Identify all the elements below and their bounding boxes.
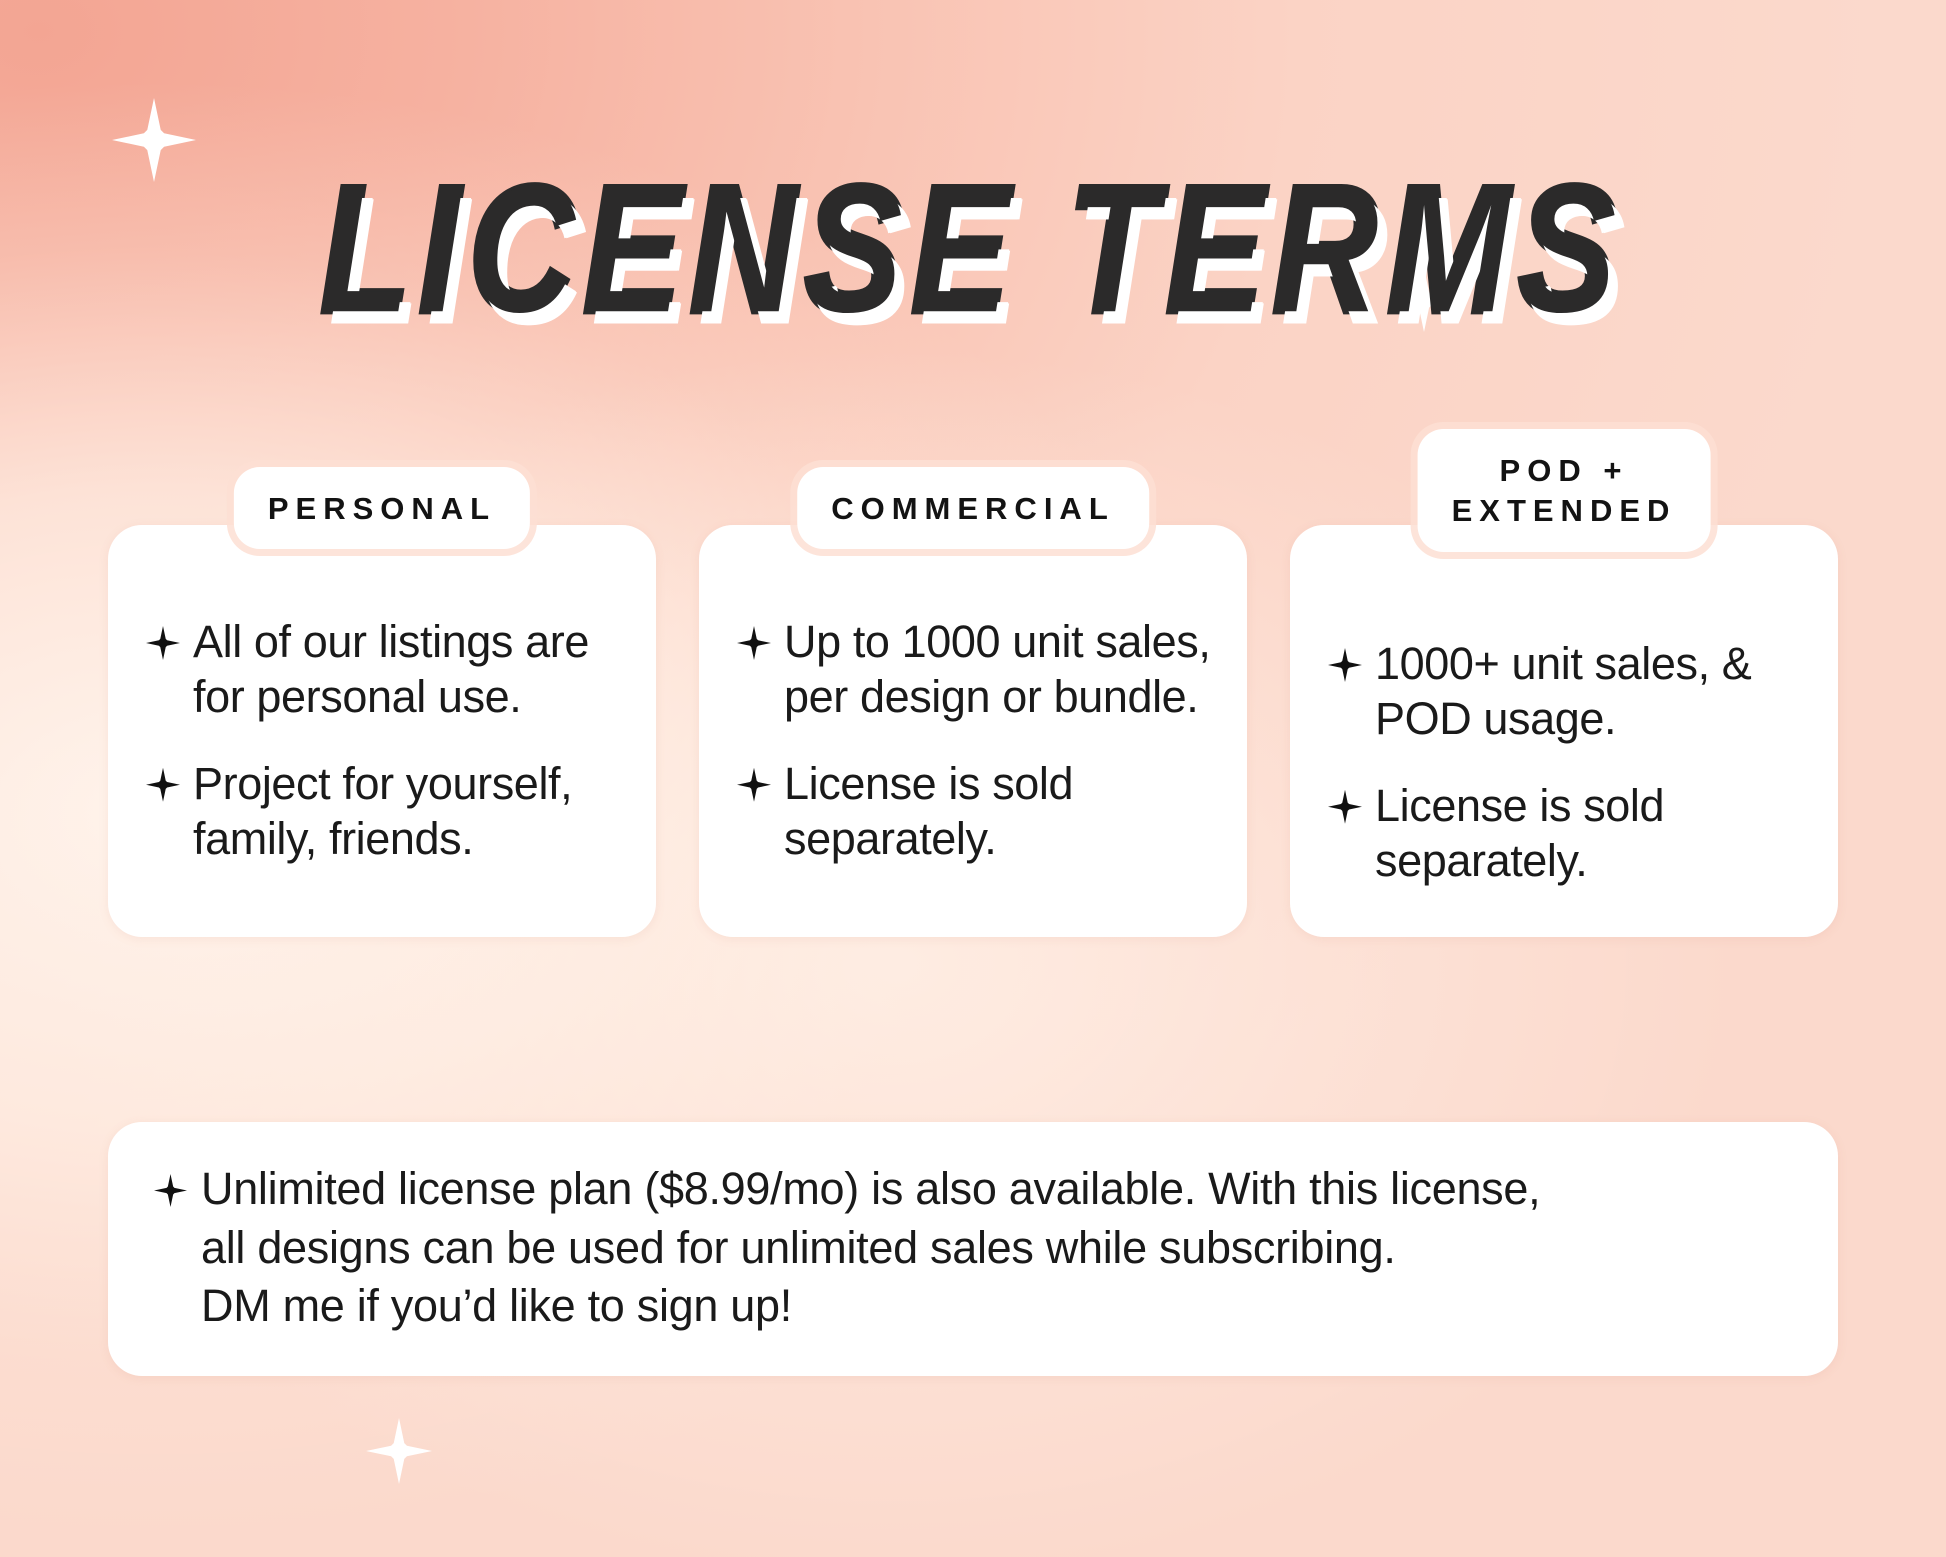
sparkle-bullet-icon [154,1174,187,1207]
plan-card-tab-commercial: COMMERCIAL [797,467,1149,549]
plan-card-personal: PERSONAL All of our listings are for per… [108,525,656,937]
poster-canvas: LICENSE TERMS PERSONAL All of our listin… [0,0,1946,1557]
plan-feature-text: License is sold separately. [784,757,1213,867]
list-item: License is sold separately. [737,757,1213,867]
plan-card-tab-label-line2: EXTENDED [1452,491,1677,531]
sparkle-bullet-icon [146,768,180,802]
plan-feature-text: 1000+ unit sales, & POD usage. [1375,637,1804,747]
unlimited-plan-text: Unlimited license plan ($8.99/mo) is als… [201,1160,1540,1336]
plan-feature-text: License is sold separately. [1375,779,1804,889]
plan-card-pod-extended: POD + EXTENDED 1000+ unit sales, & POD u… [1290,525,1838,937]
plan-feature-text: Project for yourself, family, friends. [193,757,622,867]
plan-card-row: PERSONAL All of our listings are for per… [108,525,1838,937]
sparkle-bullet-icon [737,626,771,660]
plan-card-tab-pod-extended: POD + EXTENDED [1418,429,1711,552]
plan-card-tab-label: COMMERCIAL [831,489,1115,529]
plan-feature-list: All of our listings are for personal use… [146,615,622,867]
plan-card-commercial: COMMERCIAL Up to 1000 unit sales, per de… [699,525,1247,937]
plan-card-tab-label: PERSONAL [268,489,496,529]
plan-feature-text: All of our listings are for personal use… [193,615,622,725]
sparkle-bullet-icon [1328,648,1362,682]
sparkle-icon-bottom-left [366,1418,432,1484]
plan-feature-list: Up to 1000 unit sales, per design or bun… [737,615,1213,867]
sparkle-bullet-icon [1328,790,1362,824]
sparkle-bullet-icon [737,768,771,802]
plan-card-tab-personal: PERSONAL [234,467,530,549]
list-item: Up to 1000 unit sales, per design or bun… [737,615,1213,725]
page-title-wrapper: LICENSE TERMS [0,160,1946,308]
unlimited-plan-banner: Unlimited license plan ($8.99/mo) is als… [108,1122,1838,1376]
plan-card-body: All of our listings are for personal use… [108,525,656,901]
list-item: 1000+ unit sales, & POD usage. [1328,637,1804,747]
plan-feature-list: 1000+ unit sales, & POD usage. License i… [1328,637,1804,889]
plan-card-body: 1000+ unit sales, & POD usage. License i… [1290,525,1838,923]
page-title: LICENSE TERMS [321,160,1625,341]
sparkle-bullet-icon [146,626,180,660]
list-item: License is sold separately. [1328,779,1804,889]
plan-card-tab-label-line1: POD + [1452,451,1677,491]
plan-card-body: Up to 1000 unit sales, per design or bun… [699,525,1247,901]
list-item: Project for yourself, family, friends. [146,757,622,867]
plan-feature-text: Up to 1000 unit sales, per design or bun… [784,615,1213,725]
list-item: All of our listings are for personal use… [146,615,622,725]
